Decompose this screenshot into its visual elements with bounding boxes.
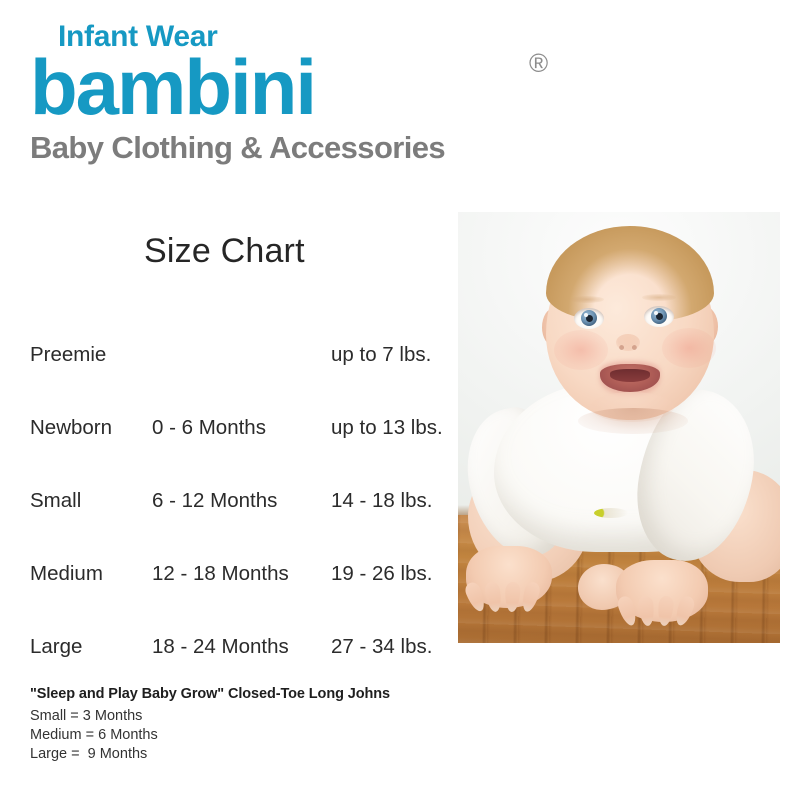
size-chart-table-body: Preemie up to 7 lbs. Newborn 0 - 6 Month… — [30, 318, 450, 683]
onesie-embroidery-detail — [594, 508, 628, 518]
row-age-value: 12 - 18 Months — [152, 537, 331, 610]
table-row: Newborn 0 - 6 Months up to 13 lbs. — [30, 391, 450, 464]
row-size-label: Large — [30, 610, 152, 683]
baby-hair — [546, 226, 714, 322]
row-weight-value: up to 7 lbs. — [331, 318, 450, 391]
footer-size-line: Small = 3 Months — [30, 707, 460, 726]
size-chart-table: Preemie up to 7 lbs. Newborn 0 - 6 Month… — [30, 318, 450, 683]
baby-mouth-inner — [610, 369, 650, 382]
row-weight-value: up to 13 lbs. — [331, 391, 450, 464]
baby-left-eyebrow — [570, 296, 604, 303]
eye-glint — [654, 311, 658, 315]
row-age-value: 0 - 6 Months — [152, 391, 331, 464]
row-size-label: Small — [30, 464, 152, 537]
brand-wordmark-text: bambini — [30, 48, 315, 126]
footer-note: "Sleep and Play Baby Grow" Closed-Toe Lo… — [30, 686, 460, 764]
baby-right-eyebrow — [642, 294, 676, 301]
baby-product-photo — [458, 212, 780, 643]
baby-left-cheek — [554, 330, 608, 370]
iris — [581, 310, 597, 326]
brand-tagline-text: Baby Clothing & Accessories — [30, 132, 570, 163]
row-size-label: Newborn — [30, 391, 152, 464]
row-age-value — [152, 318, 331, 391]
eye-glint — [584, 313, 588, 317]
table-row: Large 18 - 24 Months 27 - 34 lbs. — [30, 610, 450, 683]
footer-product-title: "Sleep and Play Baby Grow" Closed-Toe Lo… — [30, 686, 460, 702]
table-row: Preemie up to 7 lbs. — [30, 318, 450, 391]
table-row: Small 6 - 12 Months 14 - 18 lbs. — [30, 464, 450, 537]
row-weight-value: 14 - 18 lbs. — [331, 464, 450, 537]
brand-wordmark-row: bambini ® — [30, 54, 570, 126]
baby-left-eye — [574, 308, 604, 329]
footer-size-line: Medium = 6 Months — [30, 726, 460, 745]
baby-left-hand — [466, 546, 552, 608]
footer-size-line: Large = 9 Months — [30, 745, 460, 764]
row-size-label: Preemie — [30, 318, 152, 391]
size-chart-heading: Size Chart — [144, 232, 305, 271]
table-row: Medium 12 - 18 Months 19 - 26 lbs. — [30, 537, 450, 610]
size-chart-page: Infant Wear bambini ® Baby Clothing & Ac… — [0, 0, 800, 800]
baby-right-eye — [644, 306, 674, 327]
row-weight-value: 19 - 26 lbs. — [331, 537, 450, 610]
row-age-value: 18 - 24 Months — [152, 610, 331, 683]
brand-logo: Infant Wear bambini ® Baby Clothing & Ac… — [30, 22, 570, 163]
registered-trademark-icon: ® — [529, 50, 548, 76]
row-age-value: 6 - 12 Months — [152, 464, 331, 537]
baby-neck-shadow — [578, 408, 688, 434]
baby-right-hand — [616, 560, 708, 622]
row-weight-value: 27 - 34 lbs. — [331, 610, 450, 683]
baby-nostrils — [618, 344, 638, 351]
iris — [651, 308, 667, 324]
photo-backdrop — [458, 212, 780, 643]
row-size-label: Medium — [30, 537, 152, 610]
baby-right-cheek — [662, 328, 716, 368]
